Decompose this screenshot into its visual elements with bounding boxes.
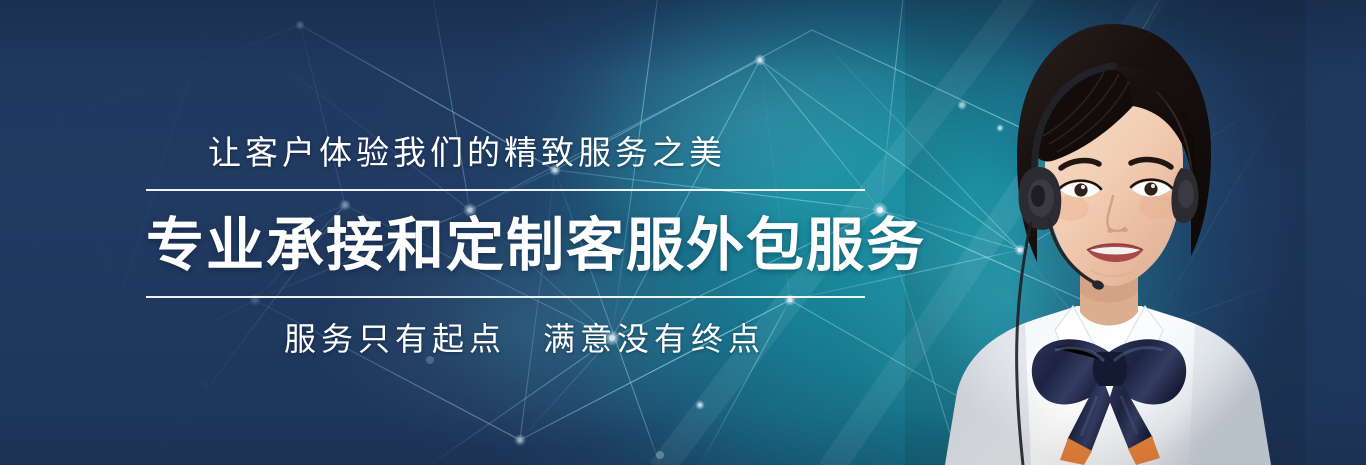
agent-photo bbox=[905, 0, 1305, 465]
divider-line-bottom bbox=[146, 296, 865, 298]
hero-tagline: 让客户体验我们的精致服务之美 bbox=[208, 131, 726, 175]
hero-subtitle: 服务只有起点 满意没有终点 bbox=[284, 316, 765, 362]
hero-headline: 专业承接和定制客服外包服务 bbox=[146, 208, 926, 282]
hero-copy-block: 让客户体验我们的精致服务之美 专业承接和定制客服外包服务 服务只有起点 满意没有… bbox=[0, 0, 900, 465]
divider-line-top bbox=[146, 189, 865, 191]
hero-banner: 让客户体验我们的精致服务之美 专业承接和定制客服外包服务 服务只有起点 满意没有… bbox=[0, 0, 1366, 465]
